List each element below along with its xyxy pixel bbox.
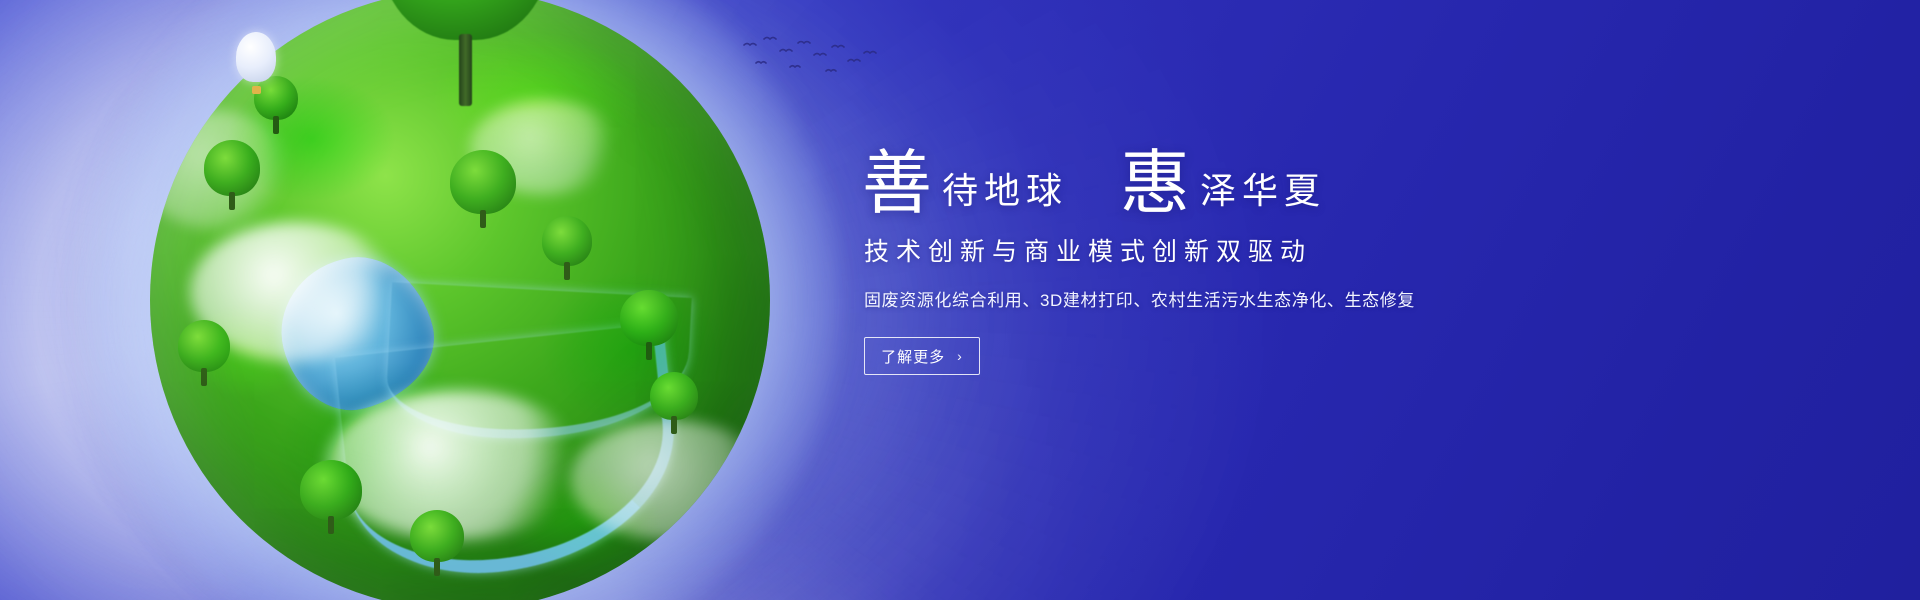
globe-illustration <box>150 0 770 600</box>
learn-more-label: 了解更多 <box>881 346 945 367</box>
tree-icon <box>410 510 464 562</box>
tree-icon <box>450 150 516 214</box>
page-title: 善 待地球 惠 泽华夏 <box>862 132 1722 218</box>
globe-cloud-icon <box>470 100 620 195</box>
learn-more-button[interactable]: 了解更多 › <box>864 337 980 375</box>
river-shape-secondary <box>384 282 691 447</box>
globe-cloud-icon <box>150 110 290 230</box>
tree-icon <box>650 372 698 420</box>
lake-shape <box>266 242 448 424</box>
hot-air-balloon-icon <box>236 32 276 82</box>
tree-icon <box>204 140 260 196</box>
headline-lead-two: 惠 <box>1120 148 1190 218</box>
globe-cloud-icon <box>570 420 770 540</box>
hero-banner: 善 待地球 惠 泽华夏 技术创新与商业模式创新双驱动 固废资源化综合利用、3D建… <box>0 0 1920 600</box>
globe-cloud-icon <box>190 222 400 362</box>
globe-cloud-icon <box>326 390 586 540</box>
chevron-right-icon: › <box>957 349 963 363</box>
tree-icon <box>620 290 678 346</box>
river-shape <box>335 323 687 586</box>
headline-rest-one: 待地球 <box>932 174 1068 218</box>
headline-rest-two: 泽华夏 <box>1190 174 1326 218</box>
birds-icon <box>740 35 880 81</box>
tree-icon <box>254 76 298 120</box>
banner-description: 固废资源化综合利用、3D建材打印、农村生活污水生态净化、生态修复 <box>864 286 1722 311</box>
tree-icon <box>178 320 230 372</box>
banner-content: 善 待地球 惠 泽华夏 技术创新与商业模式创新双驱动 固废资源化综合利用、3D建… <box>862 132 1722 375</box>
headline-lead-one: 善 <box>862 148 932 218</box>
banner-subtitle: 技术创新与商业模式创新双驱动 <box>864 232 1722 268</box>
tree-icon <box>542 216 592 266</box>
tree-icon <box>300 460 362 520</box>
